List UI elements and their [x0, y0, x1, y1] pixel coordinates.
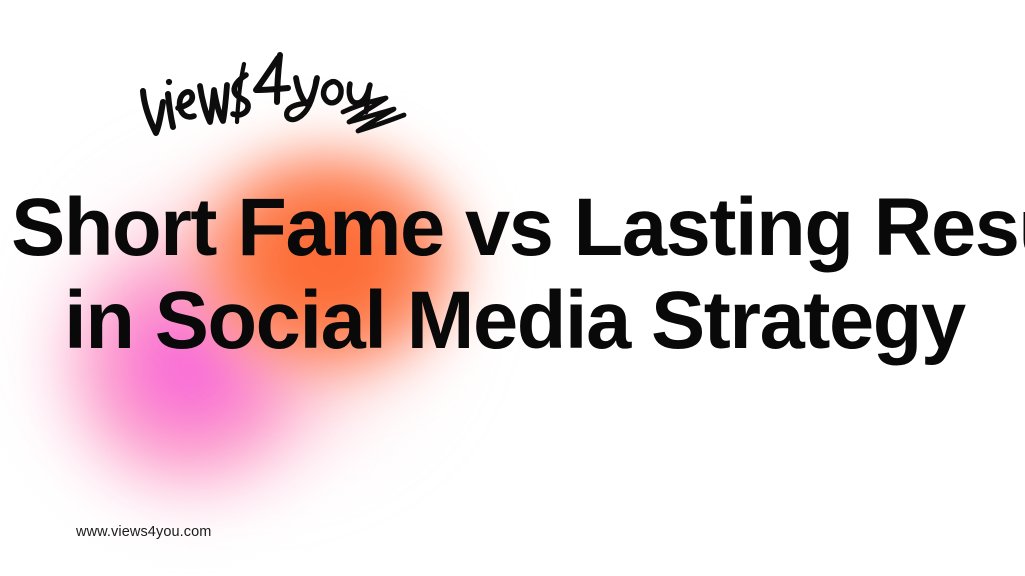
page-title: Short Fame vs Lasting Results in Social …: [0, 181, 1025, 367]
footer-website-url: www.views4you.com: [76, 524, 211, 540]
page-title-line-1: Short Fame vs Lasting Results: [5, 181, 1020, 274]
views4you-logo: [128, 42, 418, 152]
banner-canvas: Short Fame vs Lasting Results in Social …: [0, 0, 1025, 576]
page-title-line-2: in Social Media Strategy: [5, 274, 1020, 367]
